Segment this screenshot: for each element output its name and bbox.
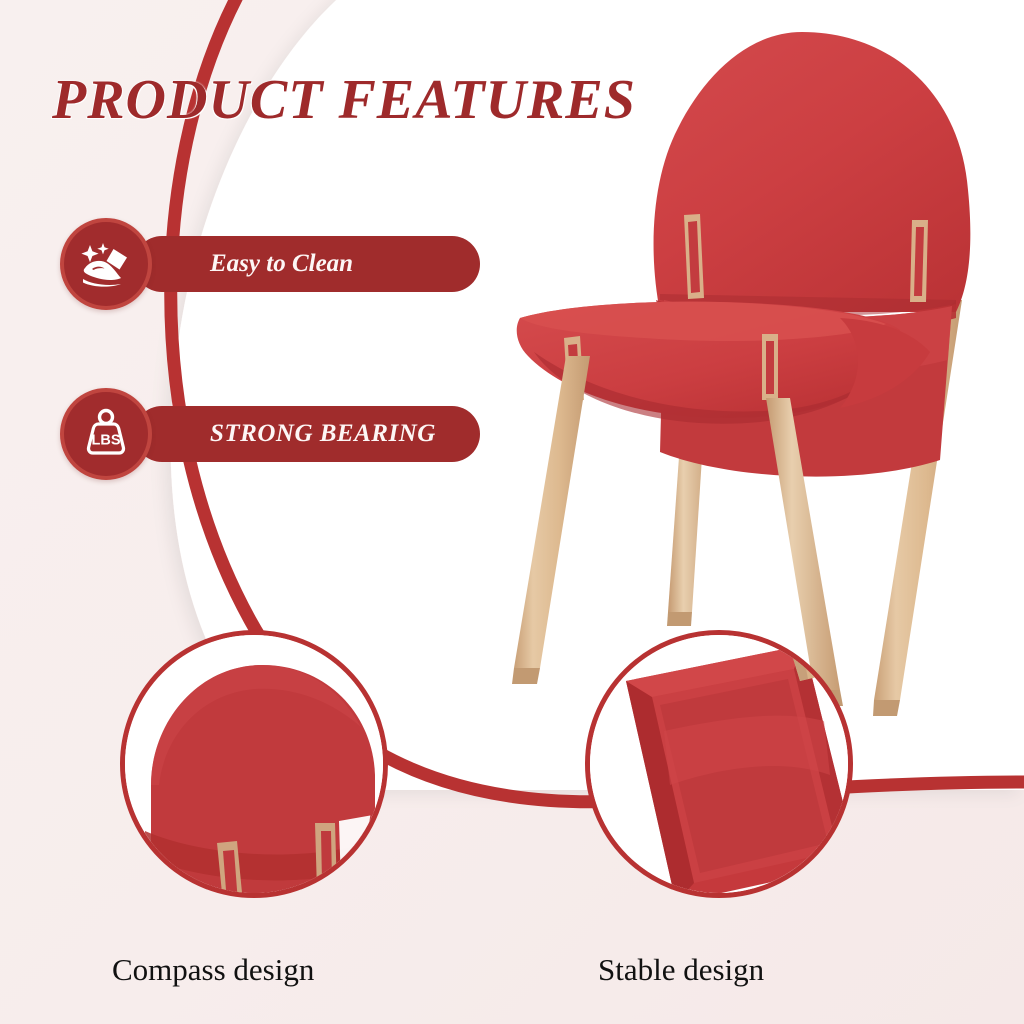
bracket-slot-back-right [910, 220, 928, 302]
sparkle-hand-cleaning-icon [60, 218, 152, 310]
feature-pill: STRONG BEARING [134, 406, 480, 462]
bracket-slot-seat-right [762, 334, 778, 400]
detail-caption-compass: Compass design [112, 952, 314, 988]
detail-caption-stable: Stable design [598, 952, 764, 988]
feature-label: Easy to Clean [210, 250, 353, 278]
feature-item-easy-to-clean[interactable]: Easy to Clean [60, 228, 480, 300]
feature-label: STRONG BEARING [210, 420, 436, 448]
detail-compass-design[interactable] [120, 630, 388, 898]
lbs-weight-icon: LBS [60, 388, 152, 480]
chair-seat-underside-closeup [590, 635, 853, 898]
feature-item-strong-bearing[interactable]: STRONG BEARING LBS [60, 398, 480, 470]
bracket-right [315, 823, 337, 891]
lbs-icon-text: LBS [92, 433, 121, 449]
detail-circle-frame [585, 630, 853, 898]
feature-pill: Easy to Clean [134, 236, 480, 292]
wooden-leg-front-left [512, 356, 590, 684]
infographic-canvas: PRODUCT FEATURES Easy to Clean STRONG BE… [0, 0, 1024, 1024]
detail-circle-frame [120, 630, 388, 898]
chair-backrest-bracket-closeup [125, 635, 388, 898]
detail-stable-design[interactable] [585, 630, 853, 898]
page-title: PRODUCT FEATURES [52, 68, 636, 132]
